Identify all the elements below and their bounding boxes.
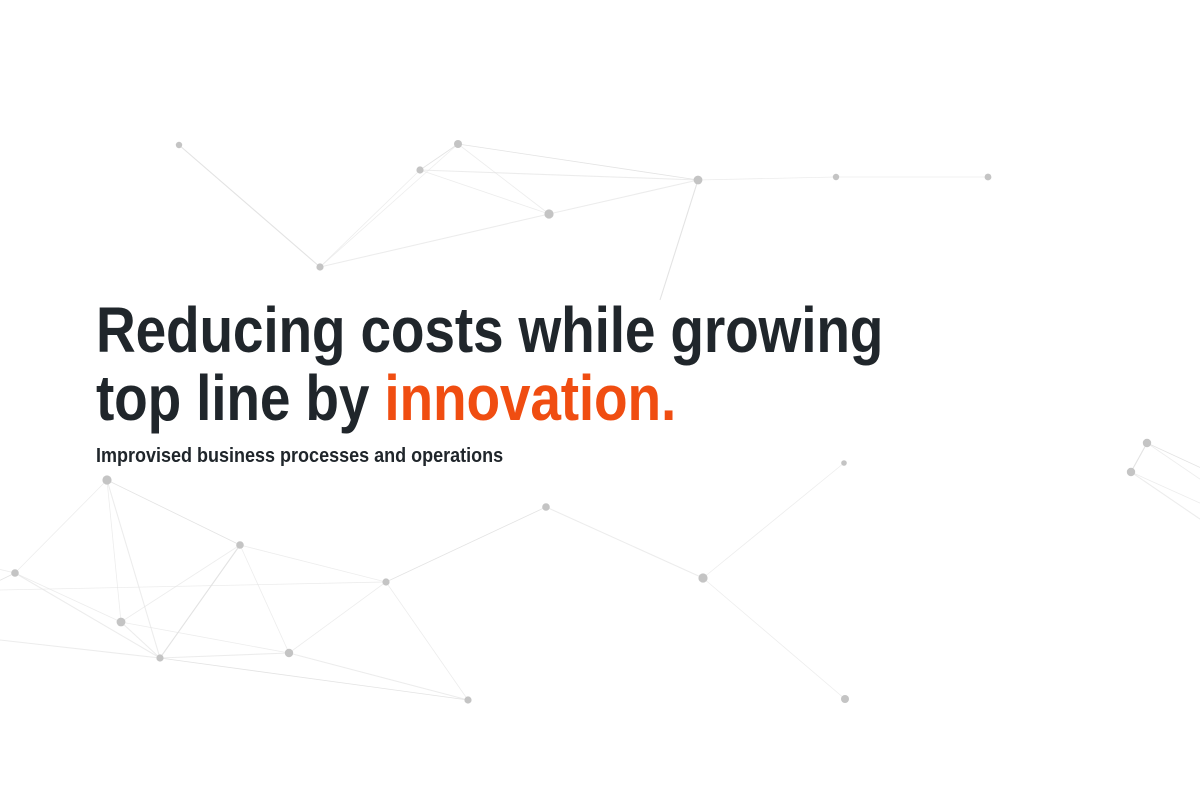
- network-edge: [320, 214, 549, 267]
- network-edge: [1131, 443, 1147, 472]
- network-edge: [703, 463, 844, 578]
- network-edge: [549, 180, 698, 214]
- network-edge: [546, 507, 703, 578]
- network-edge: [420, 170, 549, 214]
- network-edge: [458, 144, 549, 214]
- network-edge: [660, 180, 698, 300]
- page-title-line-2-prefix: top line by: [96, 362, 384, 434]
- network-node: [117, 618, 126, 627]
- network-edge: [386, 582, 468, 700]
- network-edge: [1131, 472, 1200, 560]
- network-node: [176, 142, 182, 148]
- network-edge: [107, 480, 121, 622]
- network-edge: [107, 480, 240, 545]
- slide-canvas: Reducing costs while growing top line by…: [0, 0, 1200, 799]
- network-edge: [320, 144, 458, 267]
- network-edge: [121, 622, 160, 658]
- network-edge: [15, 573, 160, 658]
- network-edge: [179, 145, 320, 267]
- network-node: [416, 166, 423, 173]
- network-edge: [698, 177, 836, 180]
- network-edge: [0, 640, 160, 658]
- network-edge: [160, 545, 240, 658]
- network-node: [454, 140, 462, 148]
- network-node: [11, 569, 19, 577]
- network-edge: [160, 653, 289, 658]
- network-node: [1143, 439, 1151, 447]
- network-edge: [458, 144, 698, 180]
- network-edge: [1147, 443, 1200, 520]
- page-title-line-2: top line by innovation.: [96, 364, 939, 432]
- network-edge: [15, 573, 121, 622]
- page-title-line-1: Reducing costs while growing: [96, 296, 939, 364]
- network-node: [156, 654, 163, 661]
- network-edge: [160, 658, 468, 700]
- hero-text-block: Reducing costs while growing top line by…: [96, 296, 1076, 468]
- network-node: [1127, 468, 1135, 476]
- network-node: [985, 174, 992, 181]
- network-edge: [1147, 443, 1200, 495]
- network-node: [841, 695, 849, 703]
- network-node: [316, 263, 323, 270]
- network-edge: [15, 480, 107, 573]
- network-edge: [240, 545, 289, 653]
- page-subtitle: Improvised business processes and operat…: [96, 432, 978, 468]
- network-edge: [289, 653, 468, 700]
- network-node: [285, 649, 293, 657]
- network-edge: [0, 582, 386, 590]
- network-node: [544, 209, 553, 218]
- network-node: [102, 475, 111, 484]
- network-edge: [121, 622, 289, 653]
- network-edge: [320, 170, 420, 267]
- network-node: [382, 578, 389, 585]
- network-node: [833, 174, 839, 180]
- network-edge: [386, 507, 546, 582]
- network-edge: [0, 573, 15, 600]
- network-node: [464, 696, 471, 703]
- network-edge: [121, 545, 240, 622]
- network-edge: [420, 170, 698, 180]
- network-edge: [107, 480, 160, 658]
- network-edge: [703, 578, 845, 699]
- page-title-accent-word: innovation.: [384, 362, 676, 434]
- network-edge: [240, 545, 386, 582]
- network-node: [694, 176, 703, 185]
- network-edge: [420, 144, 458, 170]
- network-node: [236, 541, 244, 549]
- network-edge: [289, 582, 386, 653]
- network-edge: [1131, 472, 1200, 530]
- network-node: [542, 503, 550, 511]
- network-edge: [0, 560, 15, 573]
- network-node: [698, 573, 707, 582]
